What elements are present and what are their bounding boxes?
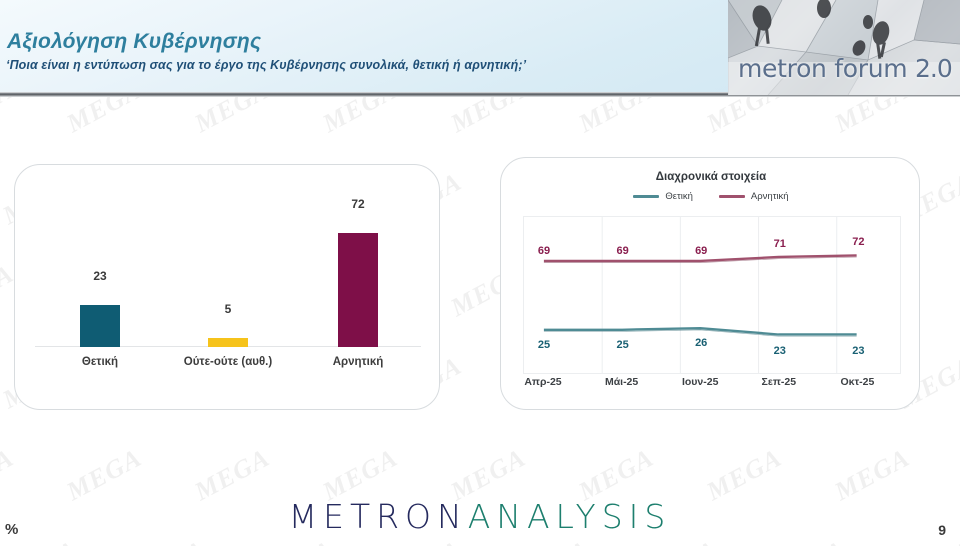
bar-value-0: 23 bbox=[45, 269, 155, 283]
metron-analysis-logo: METRONANALYSIS bbox=[0, 497, 960, 536]
legend-label-arnitiki: Αρνητική bbox=[751, 191, 789, 202]
line-value-arnitiki-3: 71 bbox=[774, 238, 786, 250]
legend-swatch-thetiki bbox=[633, 195, 659, 198]
xaxis-label-0: Απρ-25 bbox=[524, 376, 561, 388]
watermark-text: MEGA bbox=[382, 535, 467, 546]
page-number: 9 bbox=[938, 522, 946, 538]
logo-text-main: metron forum bbox=[738, 54, 915, 83]
watermark-text: MEGA bbox=[766, 535, 851, 546]
line-value-thetiki-2: 26 bbox=[695, 337, 707, 349]
bar-0 bbox=[80, 305, 120, 347]
bar-category-0: Θετική bbox=[37, 356, 163, 368]
legend-label-thetiki: Θετική bbox=[665, 191, 693, 202]
bar-group-oute-oute: 5 Ούτε-ούτε (αυθ.) bbox=[173, 338, 283, 347]
bar-group-thetiki: 23 Θετική bbox=[45, 305, 155, 347]
bar-chart-plot: 23 Θετική 5 Ούτε-ούτε (αυθ.) 72 Αρνητική bbox=[35, 191, 421, 381]
bar-2 bbox=[338, 233, 378, 347]
watermark-text: MEGA bbox=[510, 535, 595, 546]
line-chart-legend: Θετική Αρνητική bbox=[501, 191, 921, 202]
xaxis-label-4: Οκτ-25 bbox=[840, 376, 874, 388]
line-chart-title: Διαχρονικά στοιχεία bbox=[501, 171, 921, 183]
bar-category-1: Ούτε-ούτε (αυθ.) bbox=[165, 356, 291, 368]
line-value-arnitiki-1: 69 bbox=[616, 245, 628, 257]
watermark-text: MEGA bbox=[894, 535, 960, 546]
bar-category-2: Αρνητική bbox=[295, 356, 421, 368]
line-value-thetiki-1: 25 bbox=[616, 339, 628, 351]
line-value-arnitiki-0: 69 bbox=[538, 245, 550, 257]
watermark-text: MEGA bbox=[638, 535, 723, 546]
legend-swatch-arnitiki bbox=[719, 195, 745, 198]
line-chart-card: Διαχρονικά στοιχεία Θετική Αρνητική bbox=[500, 157, 920, 410]
line-value-thetiki-4: 23 bbox=[852, 345, 864, 357]
line-value-thetiki-3: 23 bbox=[774, 345, 786, 357]
brand-analysis: ANALYSIS bbox=[468, 497, 672, 536]
brand-metron: METRON bbox=[289, 497, 468, 536]
xaxis-label-2: Ιουν-25 bbox=[682, 376, 718, 388]
bar-value-2: 72 bbox=[303, 197, 413, 211]
legend-item-arnitiki: Αρνητική bbox=[719, 191, 789, 202]
logo-text: metron forum 2.0 bbox=[738, 54, 952, 83]
watermark-text: MEGA bbox=[254, 535, 339, 546]
legend-item-thetiki: Θετική bbox=[633, 191, 693, 202]
xaxis-label-1: Μάι-25 bbox=[605, 376, 638, 388]
page-subtitle: ‘Ποια είναι η εντύπωση σας για το έργο τ… bbox=[6, 58, 526, 72]
xaxis-label-3: Σεπ-25 bbox=[762, 376, 797, 388]
bar-chart-card: 23 Θετική 5 Ούτε-ούτε (αυθ.) 72 Αρνητική bbox=[14, 164, 440, 410]
watermark-text: MEGA bbox=[126, 535, 211, 546]
page-title: Αξιολόγηση Κυβέρνησης bbox=[7, 30, 261, 54]
line-value-arnitiki-2: 69 bbox=[695, 245, 707, 257]
bar-value-1: 5 bbox=[173, 302, 283, 316]
line-chart-xaxis: Απρ-25 Μάι-25 Ιουν-25 Σεπ-25 Οκτ-25 bbox=[523, 376, 901, 396]
line-value-arnitiki-4: 72 bbox=[852, 236, 864, 248]
metron-forum-logo: metron forum 2.0 bbox=[728, 0, 960, 95]
line-chart-plot: 69 69 69 71 72 25 25 26 23 23 bbox=[523, 216, 901, 374]
bar-1 bbox=[208, 338, 248, 347]
bar-group-arnitiki: 72 Αρνητική bbox=[303, 233, 413, 347]
line-value-thetiki-0: 25 bbox=[538, 339, 550, 351]
slide: MEGAMEGAMEGAMEGAMEGAMEGAMEGAMEGAMEGAMEGA… bbox=[0, 0, 960, 546]
logo-text-number: 2.0 bbox=[915, 54, 952, 83]
line-chart-svg bbox=[524, 217, 900, 373]
